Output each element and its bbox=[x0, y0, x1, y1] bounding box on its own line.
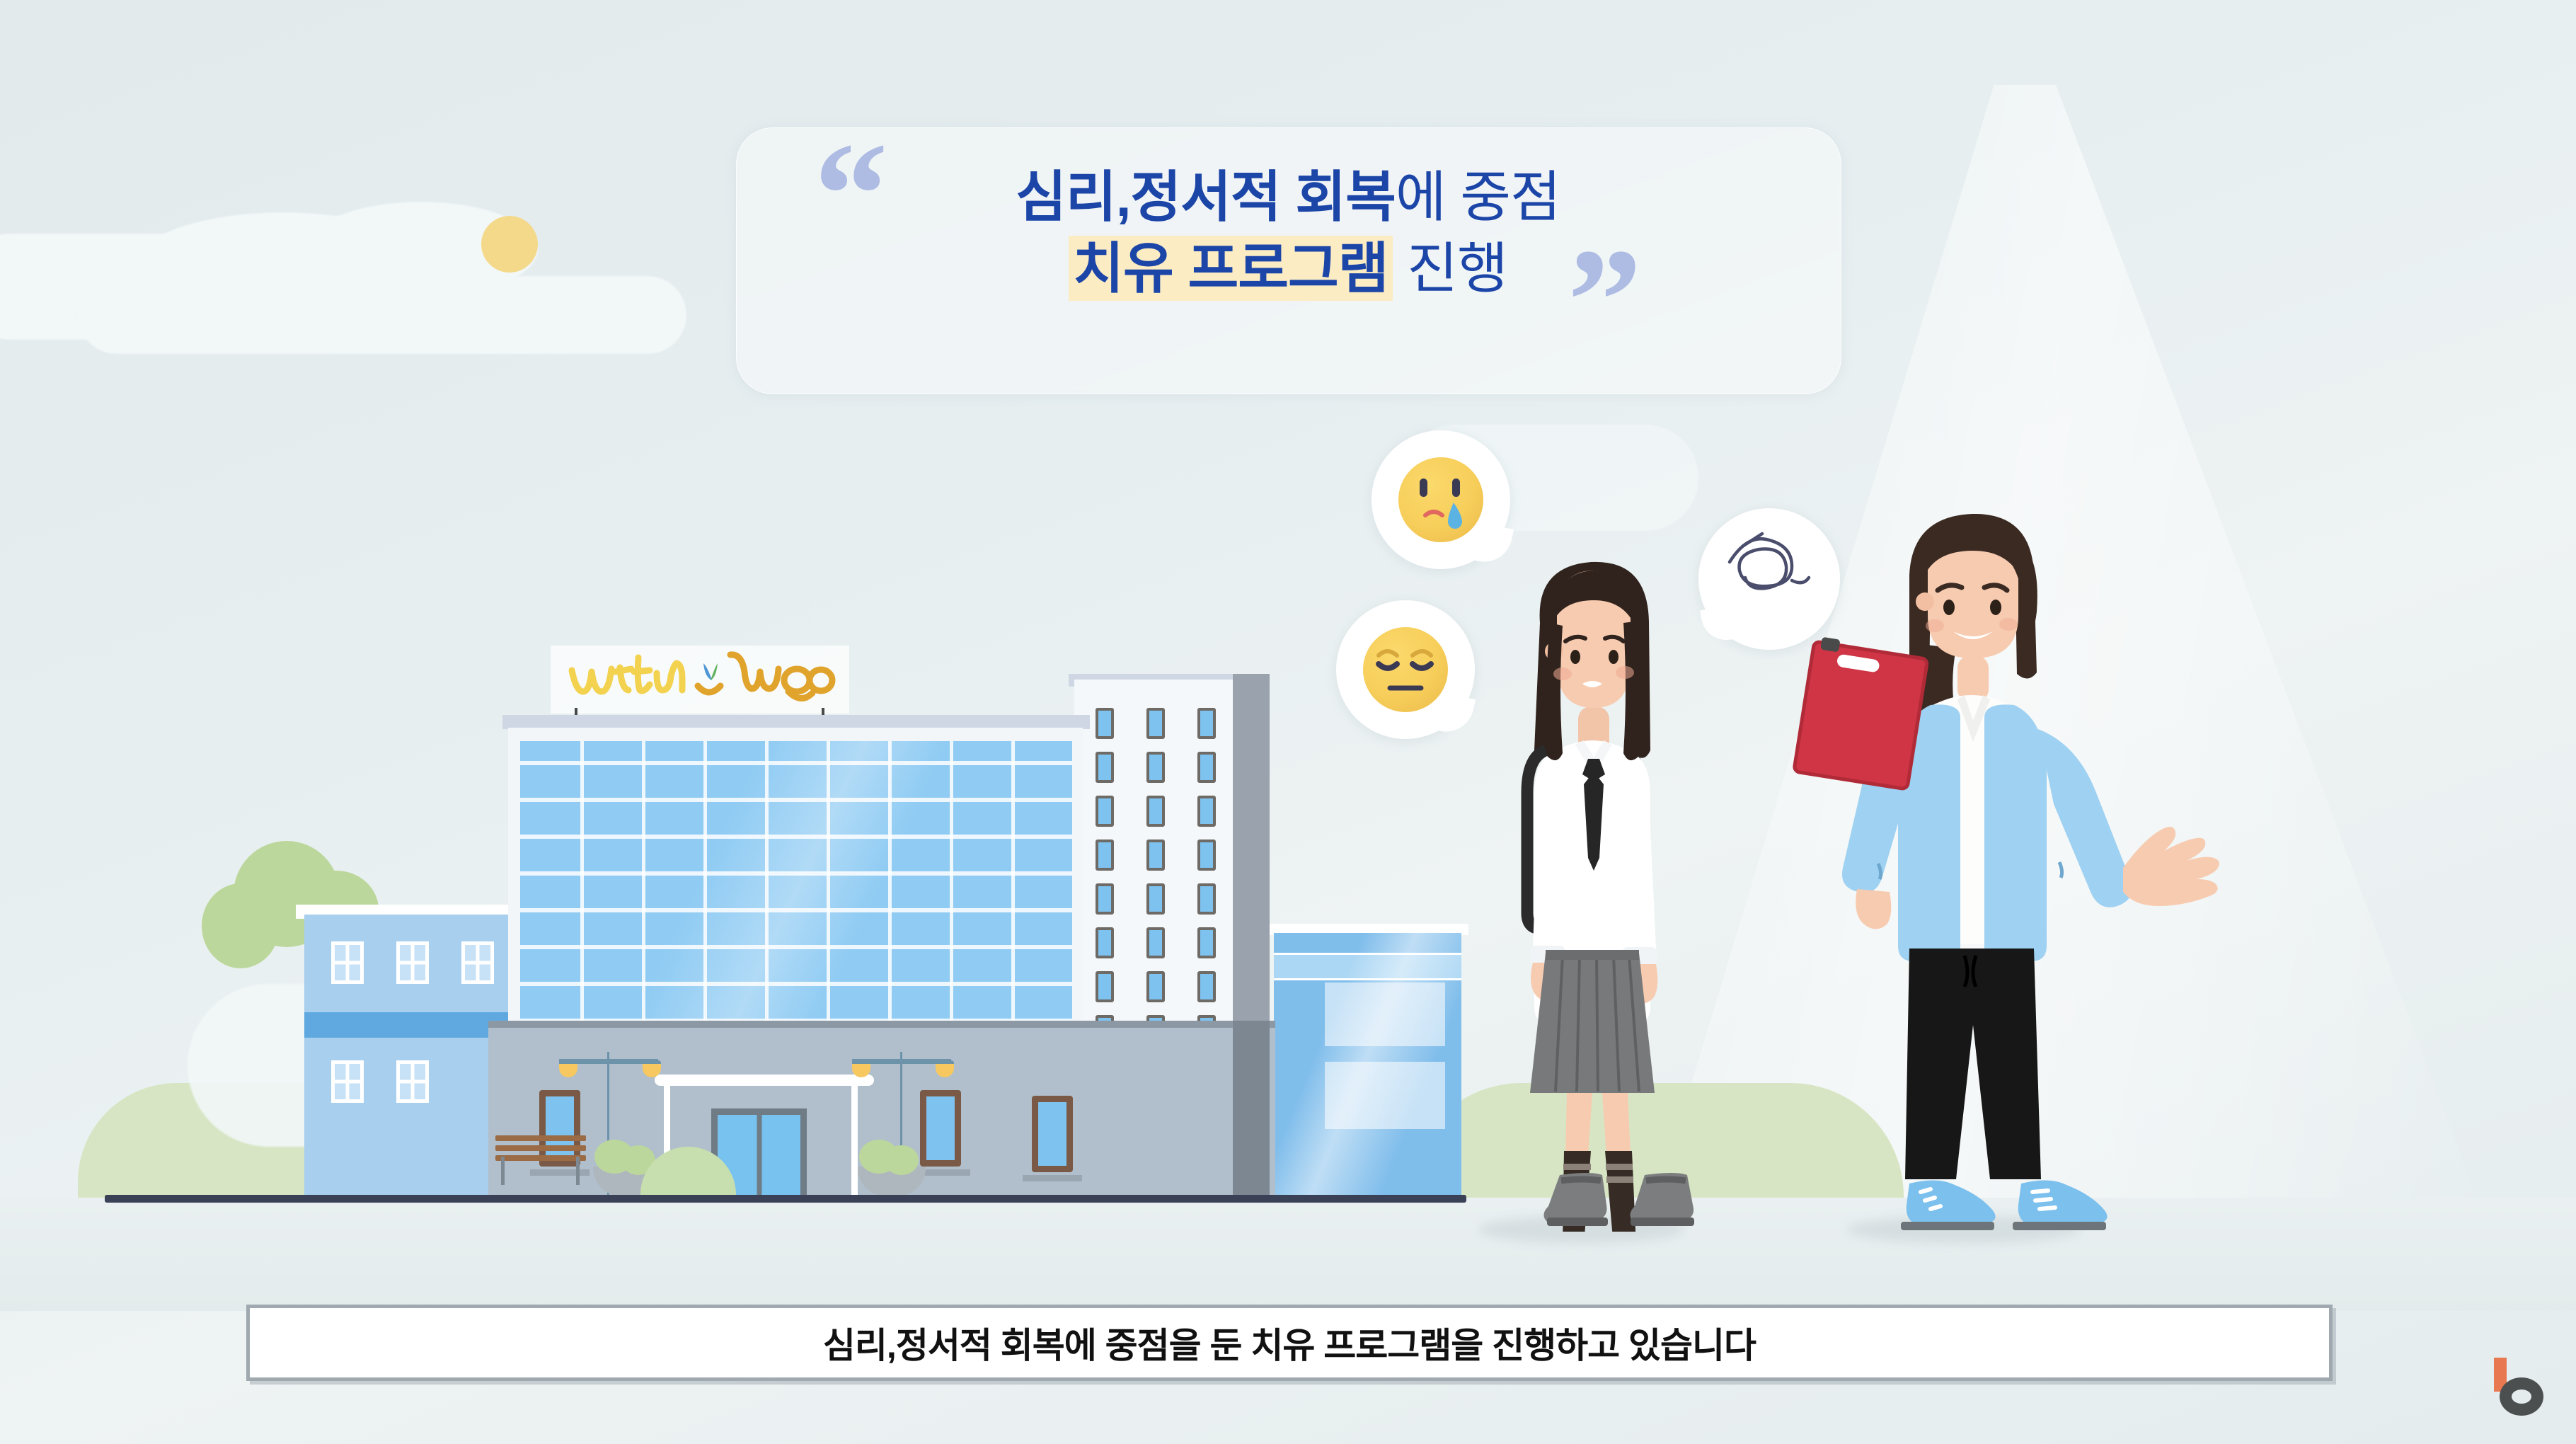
tower-side-wall bbox=[1233, 674, 1270, 1055]
tower-window bbox=[1096, 927, 1114, 958]
with-wee-logo bbox=[563, 648, 839, 711]
glass-curtain-wall bbox=[520, 741, 1072, 1042]
bush-shape bbox=[202, 883, 280, 968]
headline-line2-rest: 진행 bbox=[1393, 237, 1507, 299]
clipboard-icon bbox=[1781, 627, 1945, 807]
podium-window bbox=[1032, 1096, 1073, 1172]
tower-window bbox=[1197, 971, 1216, 1002]
headline-line1-bold: 심리,정서적 회복 bbox=[1016, 166, 1396, 228]
tower-window bbox=[1096, 752, 1114, 783]
window-grid bbox=[331, 941, 364, 984]
headline-line2-highlight: 치유 프로그램 bbox=[1069, 236, 1392, 301]
building-parapet bbox=[502, 715, 1090, 729]
entrance-canopy bbox=[655, 1075, 874, 1086]
tower-window bbox=[1146, 796, 1165, 827]
window-sill bbox=[1023, 1175, 1082, 1181]
watermark-ring bbox=[2500, 1377, 2543, 1416]
bench bbox=[495, 1135, 586, 1172]
glass-sheen bbox=[1274, 933, 1461, 1206]
tower-window bbox=[1197, 927, 1216, 958]
tower-window bbox=[1146, 840, 1165, 871]
side-building-band bbox=[304, 1012, 510, 1038]
pensive-face-emoji bbox=[1363, 627, 1448, 712]
tower-window bbox=[1197, 883, 1216, 915]
tower-window bbox=[1197, 796, 1216, 827]
student-character bbox=[1472, 538, 1713, 1232]
tower-window bbox=[1096, 971, 1114, 1002]
tower-window bbox=[1096, 840, 1114, 871]
window-grid bbox=[461, 941, 494, 984]
tower-window bbox=[1146, 883, 1165, 915]
tower-window bbox=[1197, 708, 1216, 739]
tower-window bbox=[1096, 883, 1114, 915]
window-grid bbox=[396, 1060, 429, 1103]
canopy-post bbox=[851, 1084, 858, 1198]
window-grid bbox=[396, 941, 429, 984]
podium-window bbox=[920, 1090, 961, 1167]
caption-box: 심리,정서적 회복에 중점을 둔 치유 프로그램을 진행하고 있습니다 bbox=[246, 1305, 2333, 1381]
podium-side bbox=[1233, 1021, 1270, 1206]
tower-window bbox=[1096, 796, 1114, 827]
ground-line bbox=[105, 1195, 1466, 1203]
counselor-shoes bbox=[1897, 1159, 2137, 1241]
headline-line1-rest: 에 중점 bbox=[1396, 166, 1560, 228]
scene-canvas: “ ” 심리,정서적 회복에 중점 치유 프로그램 진행 심리,정서적 회복에 … bbox=[0, 0, 2576, 1444]
tangled-scribble-icon bbox=[1718, 525, 1824, 635]
tower-window bbox=[1146, 971, 1165, 1002]
cloud-shape bbox=[78, 276, 686, 354]
tower-window bbox=[1146, 708, 1165, 739]
tower-window bbox=[1197, 840, 1216, 871]
headline-block: 심리,정서적 회복에 중점 치유 프로그램 진행 bbox=[736, 161, 1840, 305]
planter-bush bbox=[885, 1145, 919, 1175]
caption-text: 심리,정서적 회복에 중점을 둔 치유 프로그램을 진행하고 있습니다 bbox=[823, 1317, 1756, 1368]
tower-window bbox=[1096, 708, 1114, 739]
counselor-character bbox=[1826, 495, 2392, 1232]
brand-watermark bbox=[2494, 1358, 2548, 1416]
sun-icon bbox=[481, 216, 538, 273]
headline-line-1: 심리,정서적 회복에 중점 bbox=[736, 161, 1840, 233]
crying-face-emoji bbox=[1398, 457, 1483, 542]
headline-line-2: 치유 프로그램 진행 bbox=[736, 233, 1840, 304]
student-shoes bbox=[1543, 1155, 1769, 1237]
tower-window bbox=[1197, 752, 1216, 783]
tower-window bbox=[1146, 752, 1165, 783]
window-grid bbox=[331, 1060, 364, 1103]
tower-window bbox=[1146, 927, 1165, 958]
